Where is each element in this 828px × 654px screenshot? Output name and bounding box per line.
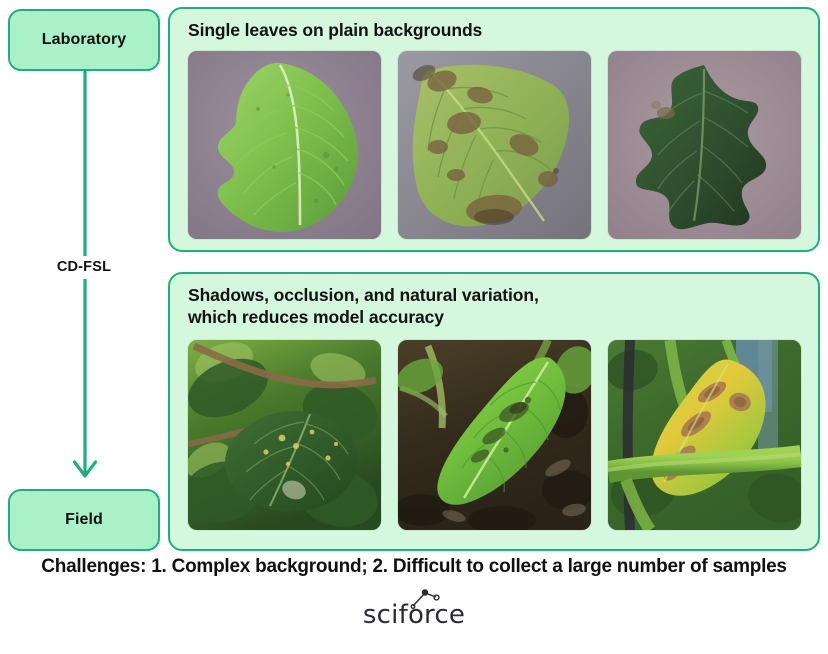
panel-field: Shadows, occlusion, and natural variatio… xyxy=(168,272,820,551)
stage-box-field: Field xyxy=(8,489,160,551)
panel-field-title: Shadows, occlusion, and natural variatio… xyxy=(188,285,804,329)
photo-leaf-over-soil-background xyxy=(398,340,591,530)
panel-field-title-line-1: Shadows, occlusion, and natural variatio… xyxy=(188,285,804,307)
sciforce-logo: sciforce xyxy=(0,600,828,630)
panel-laboratory-title: Single leaves on plain backgrounds xyxy=(188,20,804,42)
photo-dark-tomato-leaf-on-mauve-background xyxy=(608,51,801,239)
stage-label-field: Field xyxy=(65,511,103,529)
photo-yellowing-leaf-on-stem xyxy=(608,340,801,530)
flow-transition-label: CD-FSL xyxy=(8,256,160,279)
graph-node-mark-icon xyxy=(409,587,443,609)
stage-label-laboratory: Laboratory xyxy=(42,31,127,49)
challenges-caption: Challenges: 1. Complex background; 2. Di… xyxy=(0,556,828,578)
stage-box-laboratory: Laboratory xyxy=(8,9,160,71)
photo-diseased-leaf-with-brown-lesions xyxy=(398,51,591,239)
flow-transition-text: CD-FSL xyxy=(57,259,111,275)
photo-row-laboratory xyxy=(188,51,804,239)
diagram-canvas: Laboratory CD-FSL Field Single leaves on… xyxy=(0,0,828,654)
photo-leaf-canopy-with-shadows xyxy=(188,340,381,530)
panel-laboratory: Single leaves on plain backgrounds xyxy=(168,7,820,252)
photo-row-field xyxy=(188,340,804,530)
panel-field-title-line-2: which reduces model accuracy xyxy=(188,307,804,329)
photo-healthy-green-leaf-on-gray-background xyxy=(188,51,381,239)
